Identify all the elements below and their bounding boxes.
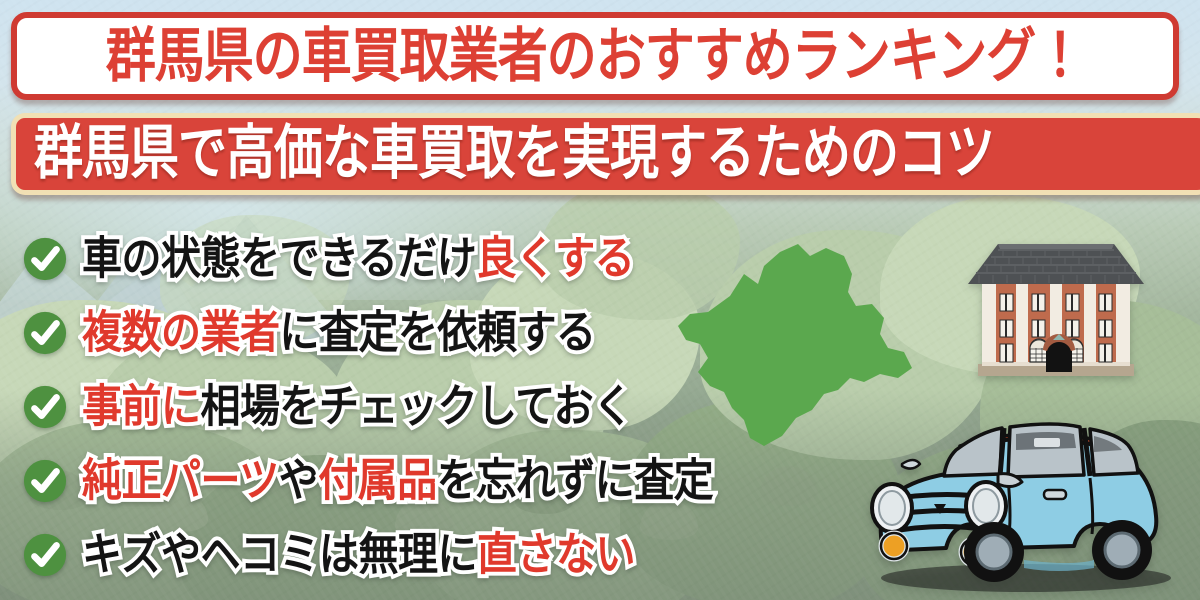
list-item-segment: に査定を依頼する <box>280 308 596 357</box>
page-title: 群馬県の車買取業者のおすすめランキング！ <box>106 27 1085 86</box>
list-item-segment-emphasis: 良くする <box>476 234 634 283</box>
list-item-segment: や <box>279 456 319 505</box>
banner-canvas: 車の状態をできるだけ良くする 複数の業者に査定を依頼する 事前に相場をチェックし… <box>0 0 1200 600</box>
list-item-text: キズやヘコミは無理に直さない <box>82 533 635 578</box>
list-item-segment: 相場をチェックしておく <box>201 382 633 431</box>
light-blue-kei-car <box>848 404 1196 596</box>
tips-checklist: 車の状態をできるだけ良くする 複数の業者に査定を依頼する 事前に相場をチェックし… <box>22 222 902 592</box>
list-item-segment-emphasis: 直さない <box>477 530 635 579</box>
list-item: 複数の業者に査定を依頼する <box>22 296 902 370</box>
check-circle-icon <box>22 532 68 578</box>
list-item-segment-emphasis: 事前に <box>82 382 201 431</box>
list-item-segment-emphasis: 純正パーツ <box>82 456 279 505</box>
list-item-text: 車の状態をできるだけ良くする <box>82 237 634 282</box>
check-circle-icon <box>22 458 68 504</box>
list-item: 車の状態をできるだけ良くする <box>22 222 902 296</box>
list-item-segment: を忘れずに査定 <box>437 456 714 505</box>
title-banner: 群馬県の車買取業者のおすすめランキング！ <box>11 12 1179 100</box>
list-item: キズやヘコミは無理に直さない <box>22 518 902 592</box>
subtitle-banner: 群馬県で高価な車買取を実現するためのコツ <box>11 113 1200 195</box>
tomioka-silk-mill-building <box>958 228 1154 388</box>
list-item: 純正パーツや付属品を忘れずに査定 <box>22 444 902 518</box>
list-item-segment-emphasis: 複数の業者 <box>82 308 280 357</box>
check-circle-icon <box>22 310 68 356</box>
list-item-text: 複数の業者に査定を依頼する <box>82 311 596 356</box>
list-item: 事前に相場をチェックしておく <box>22 370 902 444</box>
list-item-text: 事前に相場をチェックしておく <box>82 385 633 430</box>
check-circle-icon <box>22 384 68 430</box>
list-item-segment: キズやヘコミは無理に <box>82 530 477 579</box>
page-subtitle: 群馬県で高価な車買取を実現するためのコツ <box>34 125 994 184</box>
list-item-text: 純正パーツや付属品を忘れずに査定 <box>82 459 713 504</box>
list-item-segment-emphasis: 付属品 <box>318 456 437 505</box>
check-circle-icon <box>22 236 68 282</box>
list-item-segment: 車の状態をできるだけ <box>82 234 476 283</box>
